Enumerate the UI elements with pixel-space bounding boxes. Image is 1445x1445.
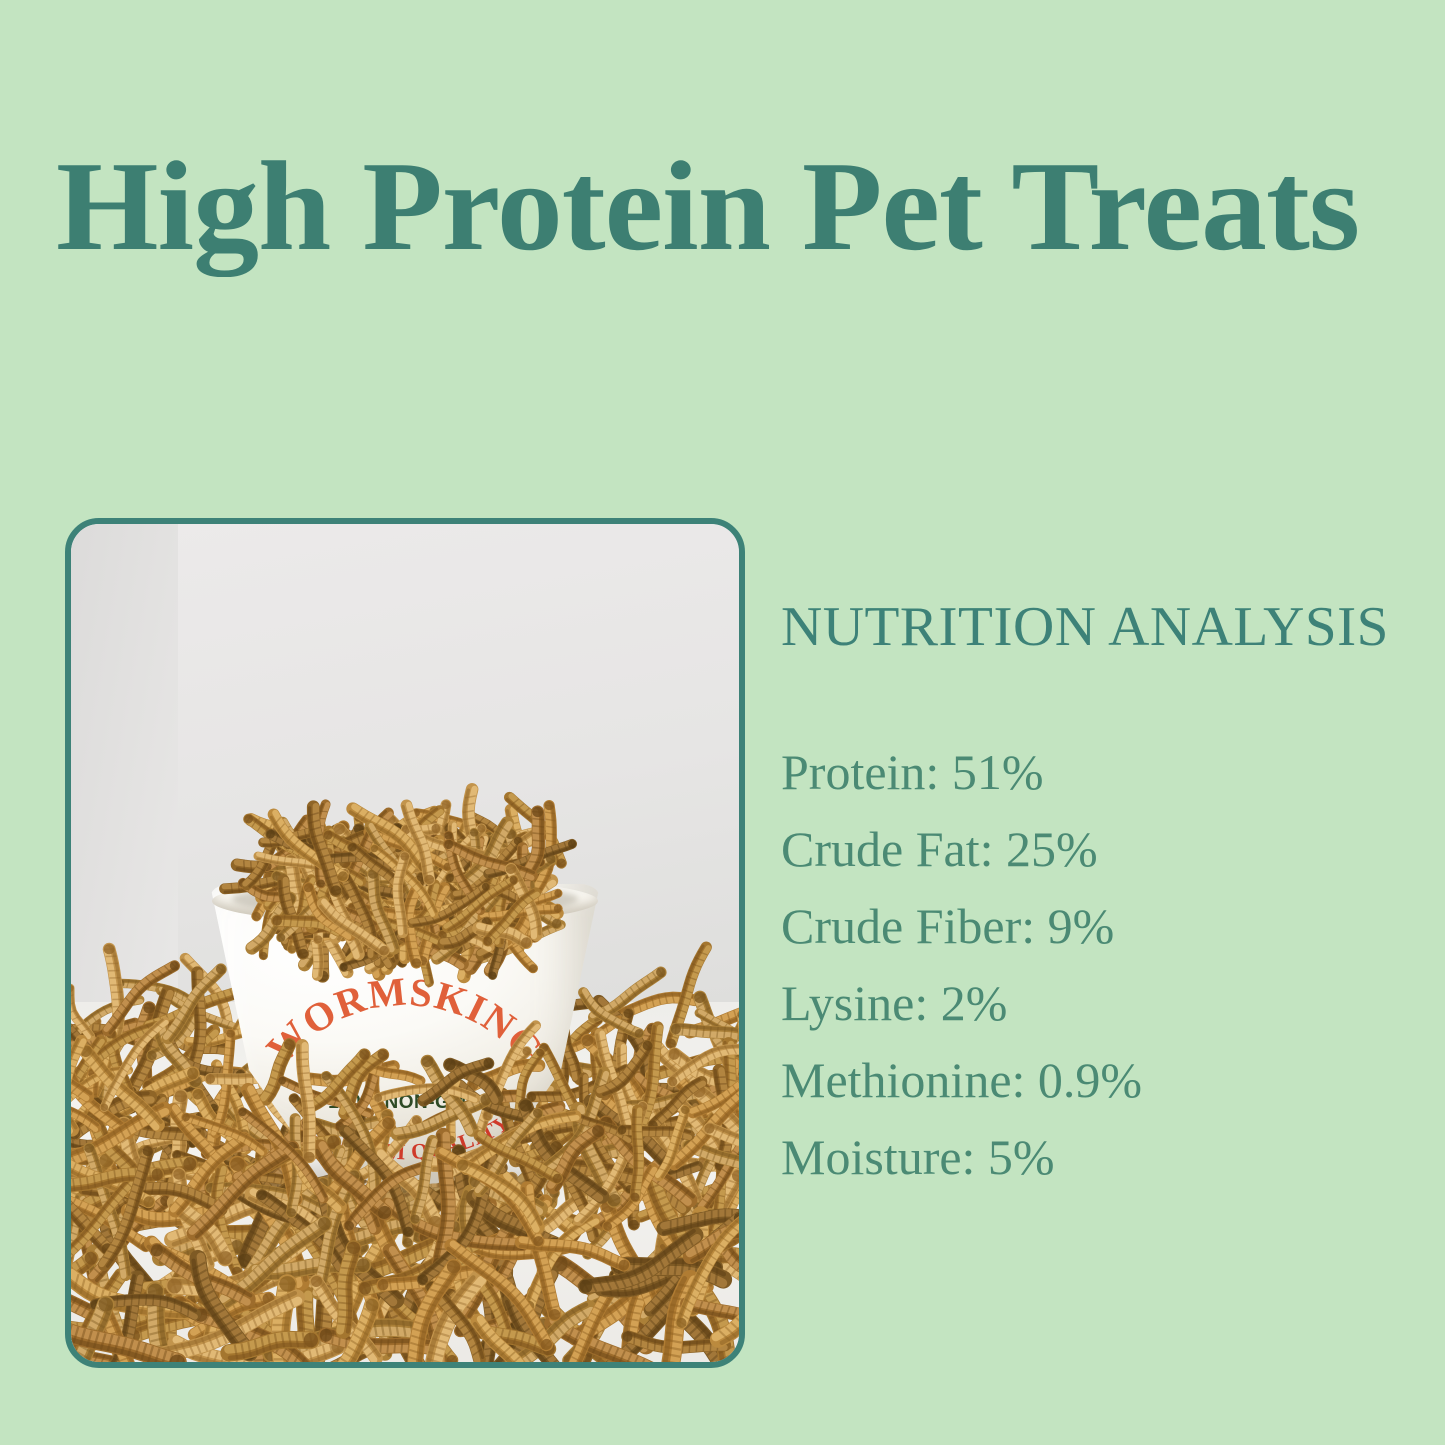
nutrition-panel: NUTRITION ANALYSIS Protein: 51%Crude Fat… (781, 598, 1421, 1196)
product-infographic: High Protein Pet Treats WORMSKING (0, 0, 1445, 1445)
nutrition-row: Crude Fat: 25% (781, 811, 1421, 888)
product-photo: WORMSKING 100% NON-GMO PREMIUM QUALITY (71, 524, 739, 1362)
nutrition-heading: NUTRITION ANALYSIS (781, 598, 1434, 656)
page-title: High Protein Pet Treats (56, 142, 1445, 272)
nutrition-row: Moisture: 5% (781, 1119, 1421, 1196)
nutrition-list: Protein: 51%Crude Fat: 25%Crude Fiber: 9… (781, 734, 1421, 1196)
product-photo-frame: WORMSKING 100% NON-GMO PREMIUM QUALITY (65, 518, 745, 1368)
nutrition-row: Methionine: 0.9% (781, 1042, 1421, 1119)
mealworms-front-layer (71, 524, 739, 1362)
nutrition-row: Crude Fiber: 9% (781, 888, 1421, 965)
nutrition-row: Lysine: 2% (781, 965, 1421, 1042)
nutrition-row: Protein: 51% (781, 734, 1421, 811)
